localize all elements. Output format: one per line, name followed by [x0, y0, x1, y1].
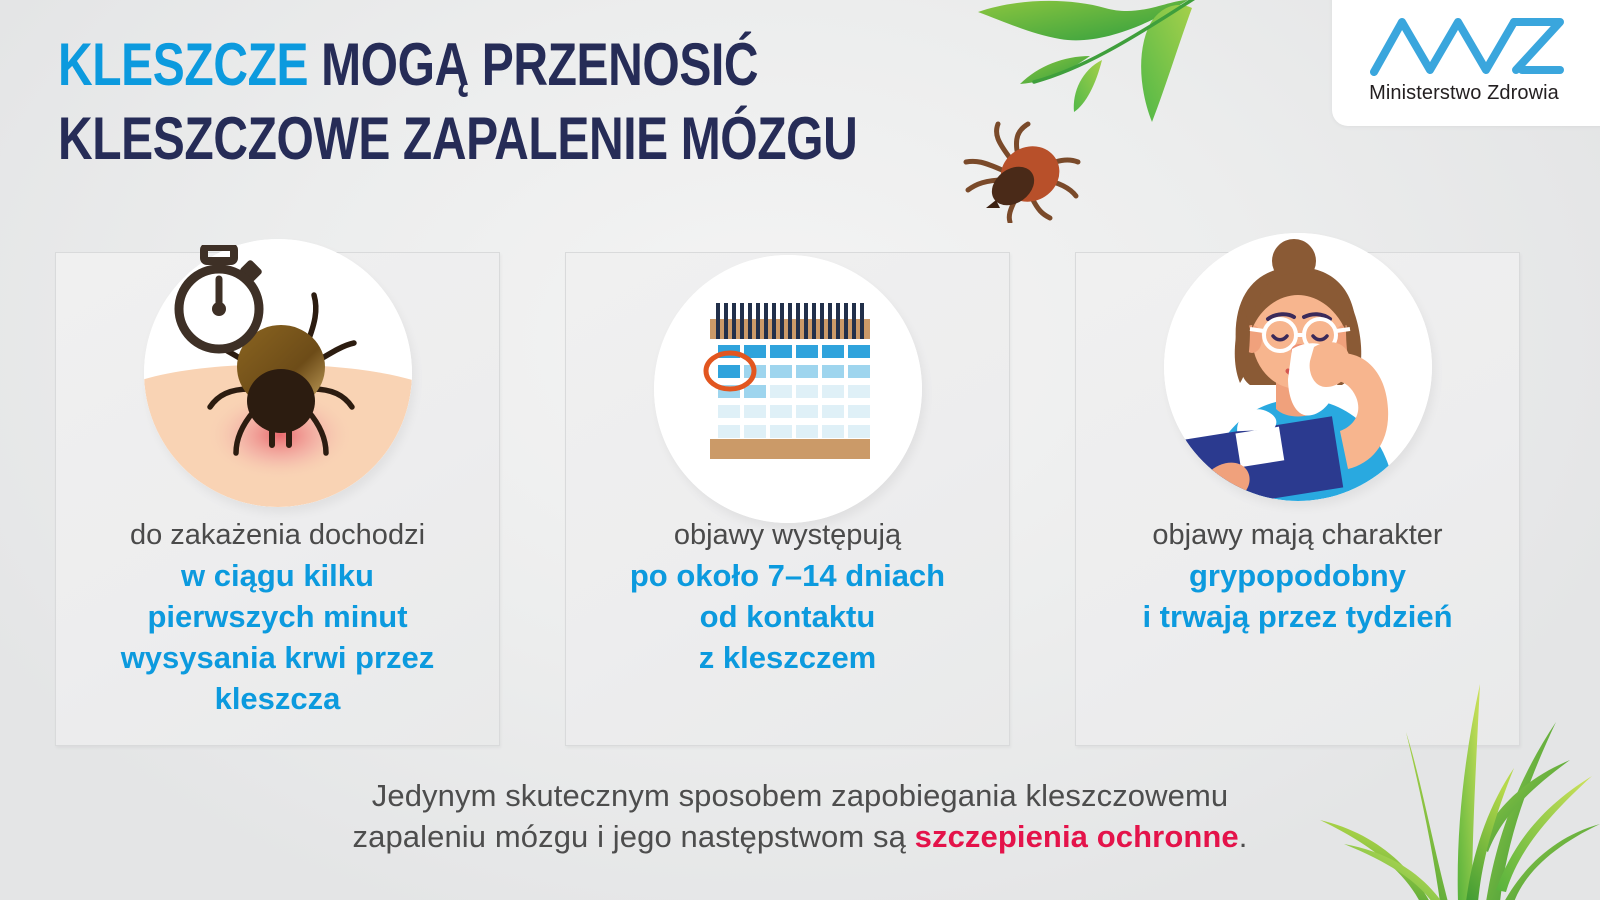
footer-message: Jedynym skutecznym sposobem zapobiegania…: [0, 775, 1600, 857]
footer-line-2: zapaleniu mózgu i jego następstwom są sz…: [0, 816, 1600, 857]
leaf-branch-icon: [940, 0, 1240, 184]
card-symptom-onset: objawy występują po około 7–14 dniach od…: [565, 252, 1010, 746]
card-1-highlight-4: kleszcza: [74, 678, 481, 719]
infographic-canvas: KLESZCZE MOGĄ PRZENOSIĆ KLESZCZOWE ZAPAL…: [0, 0, 1600, 900]
tick-icon: [958, 118, 1088, 223]
card-1-highlight-3: wysysania krwi przez: [74, 637, 481, 678]
sick-woman-illustration: [1164, 233, 1432, 501]
card-3-text: objawy mają charakter grypopodobny i trw…: [1094, 515, 1501, 637]
footer-line-2-after: .: [1239, 819, 1248, 854]
card-3-lead: objawy mają charakter: [1094, 515, 1501, 555]
calendar-illustration: [654, 255, 922, 523]
card-3-highlight-1: grypopodobny: [1094, 555, 1501, 596]
stopwatch-icon: [164, 245, 276, 357]
card-1-text: do zakażenia dochodzi w ciągu kilku pier…: [74, 515, 481, 719]
card-1-highlight-1: w ciągu kilku: [74, 555, 481, 596]
card-2-lead: objawy występują: [584, 515, 991, 555]
page-title: KLESZCZE MOGĄ PRZENOSIĆ KLESZCZOWE ZAPAL…: [58, 28, 938, 176]
title-line-1: KLESZCZE MOGĄ PRZENOSIĆ: [58, 28, 762, 102]
card-2-highlight-1: po około 7–14 dniach: [584, 555, 991, 596]
card-2-highlight-2: od kontaktu: [584, 596, 991, 637]
card-3-highlight-2: i trwają przez tydzień: [1094, 596, 1501, 637]
footer-line-1: Jedynym skutecznym sposobem zapobiegania…: [0, 775, 1600, 816]
footer-emphasis: szczepienia ochronne: [915, 819, 1239, 854]
card-1-highlight-2: pierwszych minut: [74, 596, 481, 637]
ministry-logo: Ministerstwo Zdrowia: [1332, 0, 1600, 126]
title-line-1-rest: MOGĄ PRZENOSIĆ: [321, 31, 758, 98]
logo-label: Ministerstwo Zdrowia: [1332, 82, 1596, 105]
card-infection-time: do zakażenia dochodzi w ciągu kilku pier…: [55, 252, 500, 746]
footer-line-2-before: zapaleniu mózgu i jego następstwom są: [353, 819, 915, 854]
title-line-2: KLESZCZOWE ZAPALENIE MÓZGU: [58, 102, 762, 176]
mz-zigzag-icon: [1370, 14, 1570, 76]
card-symptom-character: objawy mają charakter grypopodobny i trw…: [1075, 252, 1520, 746]
card-2-highlight-3: z kleszczem: [584, 637, 991, 678]
card-1-lead: do zakażenia dochodzi: [74, 515, 481, 555]
title-highlight-word: KLESZCZE: [58, 31, 308, 98]
card-2-text: objawy występują po około 7–14 dniach od…: [584, 515, 991, 678]
